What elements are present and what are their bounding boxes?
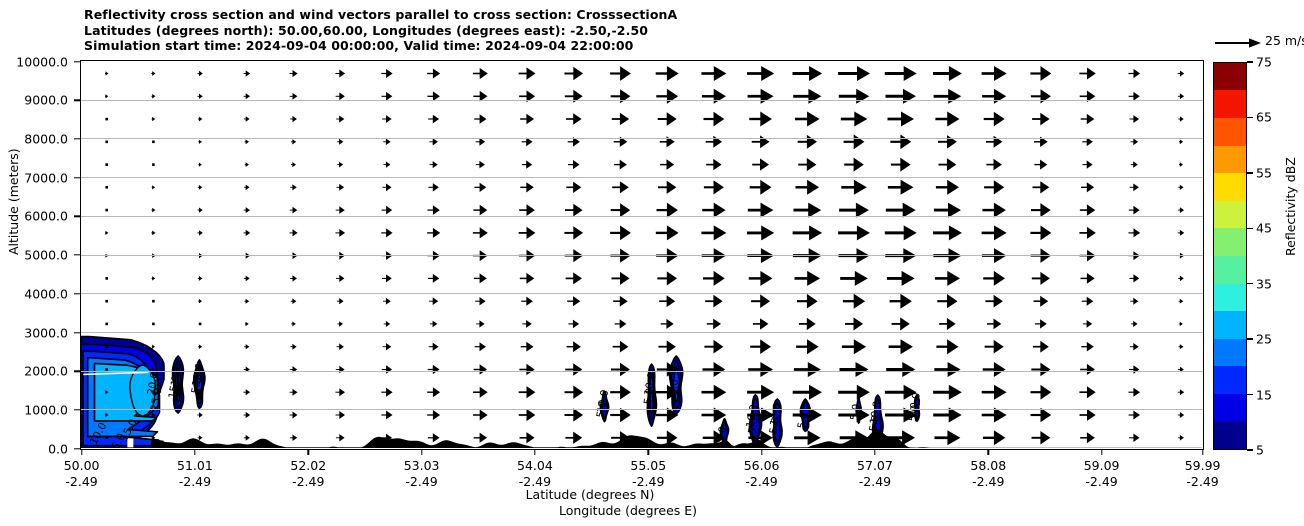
title-line-3: Simulation start time: 2024-09-04 00:00:… <box>84 38 677 54</box>
y-tick-label: 6000.0 <box>0 209 68 224</box>
gridline-horizontal <box>81 293 1203 294</box>
contour-labels: 10.015.05.020.025.015.010.05.010.05.010.… <box>88 362 923 448</box>
colorbar-tick-label: 55 <box>1256 165 1272 180</box>
x-tick-label-lon: -2.49 <box>972 474 1004 489</box>
x-tick-label-lat: 57.07 <box>857 458 893 473</box>
colorbar-tick-mark <box>1247 283 1253 284</box>
y-tick-label: 0.0 <box>0 441 68 456</box>
gridline-horizontal <box>81 409 1203 410</box>
y-tick-label: 8000.0 <box>0 132 68 147</box>
gridline-horizontal <box>81 100 1203 101</box>
colorbar-tick-mark <box>1247 338 1253 339</box>
y-axis-title: Altitude (meters) <box>6 148 21 255</box>
colorbar-segment <box>1214 146 1246 174</box>
x-tick-label-lat: 50.00 <box>64 458 100 473</box>
x-tick-label-lon: -2.49 <box>405 474 437 489</box>
x-tick-label-lon: -2.49 <box>745 474 777 489</box>
y-tick-label: 9000.0 <box>0 93 68 108</box>
x-tick-label-lat: 58.08 <box>970 458 1006 473</box>
colorbar-segment <box>1214 394 1246 422</box>
reference-arrow-icon <box>1213 33 1263 53</box>
title-line-2: Latitudes (degrees north): 50.00,60.00, … <box>84 23 677 39</box>
colorbar-segment <box>1214 228 1246 256</box>
colorbar-tick-label: 5 <box>1256 443 1264 458</box>
title-line-1: Reflectivity cross section and wind vect… <box>84 7 677 23</box>
colorbar-tick-mark <box>1247 449 1253 450</box>
colorbar-tick-label: 75 <box>1256 55 1272 70</box>
x-tick-label-lon: -2.49 <box>179 474 211 489</box>
chart-root: Reflectivity cross section and wind vect… <box>0 0 1304 526</box>
colorbar-segment <box>1214 118 1246 146</box>
colorbar[interactable] <box>1213 62 1247 450</box>
x-tick-label-lat: 59.99 <box>1185 458 1221 473</box>
x-tick-label-lon: -2.49 <box>1186 474 1218 489</box>
colorbar-tick-label: 45 <box>1256 221 1272 236</box>
colorbar-tick-label: 25 <box>1256 332 1272 347</box>
x-tick-label-lat: 56.06 <box>744 458 780 473</box>
y-tick-label: 5000.0 <box>0 248 68 263</box>
y-tick-label: 10000.0 <box>0 54 68 69</box>
colorbar-title: Reflectivity dBZ <box>1283 157 1298 256</box>
colorbar-segment <box>1214 284 1246 312</box>
x-tick-label-lat: 55.05 <box>630 458 666 473</box>
colorbar-tick-label: 15 <box>1256 387 1272 402</box>
colorbar-tick-mark <box>1247 394 1253 395</box>
x-tick-label-lat: 59.09 <box>1084 458 1120 473</box>
colorbar-segment <box>1214 63 1246 91</box>
colorbar-segment <box>1214 339 1246 367</box>
gridline-horizontal <box>81 216 1203 217</box>
colorbar-tick-label: 35 <box>1256 276 1272 291</box>
x-tick-label-lon: -2.49 <box>859 474 891 489</box>
reference-vector-key: 25 m/s <box>1213 33 1301 55</box>
colorbar-segment <box>1214 173 1246 201</box>
colorbar-segment <box>1214 311 1246 339</box>
gridline-horizontal <box>81 371 1203 372</box>
plot-inner: 10.015.05.020.025.015.010.05.010.05.010.… <box>81 61 1203 449</box>
colorbar-segment <box>1214 90 1246 118</box>
x-tick-label-lon: -2.49 <box>292 474 324 489</box>
colorbar-tick-mark <box>1247 228 1253 229</box>
x-axis-title-lon: Longitude (degrees E) <box>559 503 697 518</box>
chart-title: Reflectivity cross section and wind vect… <box>84 7 677 54</box>
y-tick-label: 7000.0 <box>0 170 68 185</box>
x-tick-label-lat: 52.02 <box>290 458 326 473</box>
x-tick-label-lat: 53.03 <box>404 458 440 473</box>
x-tick-label-lon: -2.49 <box>1085 474 1117 489</box>
colorbar-segment <box>1214 256 1246 284</box>
x-tick-label-lon: -2.49 <box>65 474 97 489</box>
colorbar-segment <box>1214 201 1246 229</box>
colorbar-tick-mark <box>1247 172 1253 173</box>
x-axis-title-lat: Latitude (degrees N) <box>526 487 655 502</box>
colorbar-segment <box>1214 421 1246 449</box>
x-tick-label-lat: 54.04 <box>517 458 553 473</box>
plot-area[interactable]: 10.015.05.020.025.015.010.05.010.05.010.… <box>80 60 1204 450</box>
gridline-horizontal <box>81 332 1203 333</box>
colorbar-segment <box>1214 366 1246 394</box>
y-tick-label: 2000.0 <box>0 364 68 379</box>
colorbar-tick-mark <box>1247 61 1253 62</box>
gridline-horizontal <box>81 255 1203 256</box>
gridline-horizontal <box>81 177 1203 178</box>
y-tick-label: 4000.0 <box>0 286 68 301</box>
colorbar-tick-mark <box>1247 117 1253 118</box>
x-tick-label-lat: 51.01 <box>177 458 213 473</box>
y-tick-label: 1000.0 <box>0 402 68 417</box>
reference-vector-label: 25 m/s <box>1265 33 1304 48</box>
y-tick-label: 3000.0 <box>0 325 68 340</box>
colorbar-tick-label: 65 <box>1256 110 1272 125</box>
gridline-horizontal <box>81 138 1203 139</box>
